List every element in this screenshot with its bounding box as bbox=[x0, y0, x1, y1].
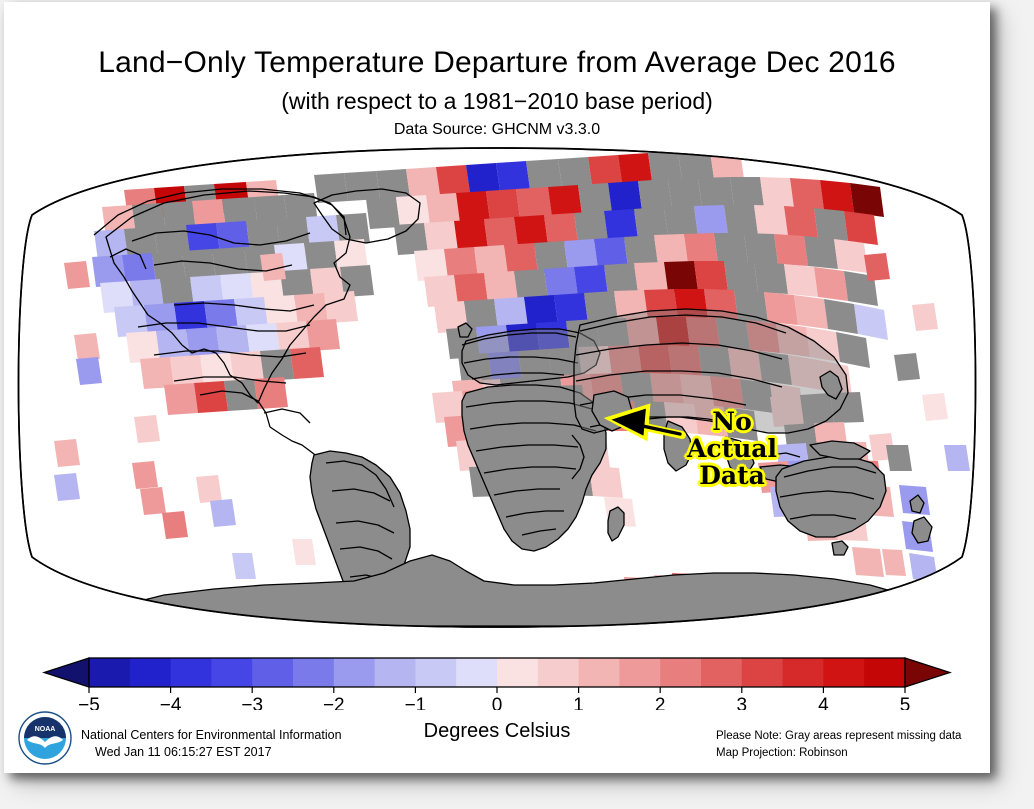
colorbar-tick-label: 5 bbox=[900, 695, 911, 710]
noaa-logo-text: NOAA bbox=[35, 726, 56, 733]
colorbar-tick-label: 1 bbox=[573, 695, 584, 710]
colorbar-band bbox=[375, 658, 416, 687]
colorbar-band bbox=[130, 658, 171, 687]
colorbar-band bbox=[293, 658, 334, 687]
page-title: Land−Only Temperature Departure from Ave… bbox=[4, 46, 990, 80]
colorbar-tick-label: 4 bbox=[818, 695, 829, 710]
colorbar-band bbox=[823, 658, 864, 687]
colorbar-bands bbox=[89, 658, 906, 687]
colorbar-band bbox=[864, 658, 905, 687]
colorbar: −5−4−3−2−1012345 bbox=[4, 650, 990, 710]
colorbar-tick-label: 2 bbox=[655, 695, 666, 710]
colorbar-tick-label: −5 bbox=[78, 695, 100, 710]
figure-root: Land−Only Temperature Departure from Ave… bbox=[0, 0, 1034, 809]
colorbar-band bbox=[497, 658, 538, 687]
missing-data-note: Please Note: Gray areas represent missin… bbox=[716, 728, 961, 745]
colorbar-tick-labels: −5−4−3−2−1012345 bbox=[78, 695, 910, 710]
colorbar-cap-low bbox=[44, 658, 89, 687]
colorbar-tick-label: −1 bbox=[405, 695, 427, 710]
colorbar-ticks bbox=[89, 687, 905, 693]
page-subtitle: (with respect to a 1981−2010 base period… bbox=[4, 88, 990, 115]
map-projection-label: Map Projection: Robinson bbox=[716, 745, 961, 762]
colorbar-band bbox=[701, 658, 742, 687]
colorbar-band bbox=[660, 658, 701, 687]
colorbar-band bbox=[579, 658, 620, 687]
colorbar-band bbox=[211, 658, 252, 687]
colorbar-tick-label: 3 bbox=[737, 695, 748, 710]
colorbar-band bbox=[456, 658, 497, 687]
colorbar-tick-label: −4 bbox=[160, 695, 182, 710]
colorbar-band bbox=[742, 658, 783, 687]
colorbar-tick-label: −2 bbox=[323, 695, 345, 710]
noaa-logo: NOAA bbox=[18, 711, 72, 765]
colorbar-band bbox=[619, 658, 660, 687]
colorbar-band bbox=[415, 658, 456, 687]
colorbar-band bbox=[783, 658, 824, 687]
colorbar-tick-label: −3 bbox=[241, 695, 263, 710]
world-map bbox=[14, 145, 980, 645]
figure-panel: Land−Only Temperature Departure from Ave… bbox=[4, 2, 990, 773]
footer-left: National Centers for Environmental Infor… bbox=[81, 727, 342, 761]
colorbar-band bbox=[334, 658, 375, 687]
colorbar-tick-label: 0 bbox=[492, 695, 503, 710]
colorbar-band bbox=[171, 658, 212, 687]
footer-right: Please Note: Gray areas represent missin… bbox=[716, 728, 961, 762]
colorbar-band bbox=[89, 658, 130, 687]
colorbar-band bbox=[538, 658, 579, 687]
data-source-label: Data Source: GHCNM v3.3.0 bbox=[4, 121, 990, 139]
colorbar-cap-high bbox=[905, 658, 950, 687]
colorbar-band bbox=[252, 658, 293, 687]
agency-name: National Centers for Environmental Infor… bbox=[81, 728, 342, 742]
generated-timestamp: Wed Jan 11 06:15:27 EST 2017 bbox=[95, 744, 342, 761]
